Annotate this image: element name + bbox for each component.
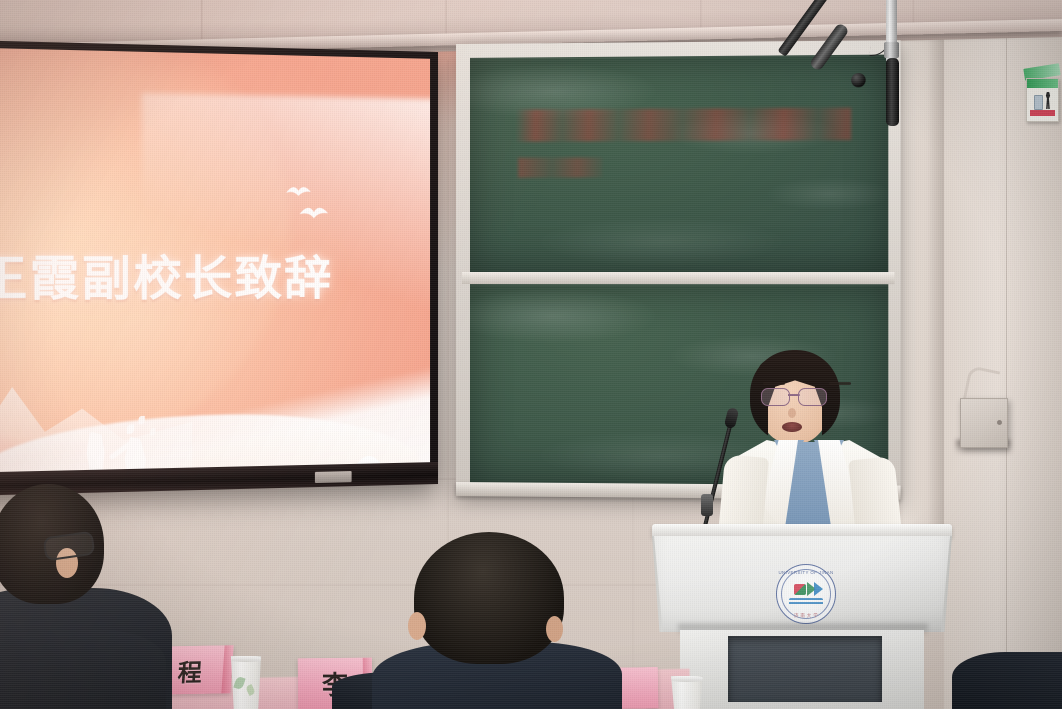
paper-cup <box>668 676 706 709</box>
dove-icon <box>299 204 330 222</box>
screen-brand-label <box>315 471 352 483</box>
slide-title: 王霞副校长致辞 <box>0 241 333 311</box>
lens-right <box>798 388 827 406</box>
sign-header-bar <box>1027 79 1058 88</box>
paper-cup <box>228 656 264 709</box>
university-emblem: UNIVERSITY OF JINAN 济 南 大 学 <box>776 564 836 624</box>
panel-latch-icon[interactable] <box>997 420 1002 425</box>
emblem-bottom-text: 济 南 大 学 <box>777 613 835 619</box>
hanging-microphone <box>886 58 899 126</box>
fire-safety-sign <box>1026 78 1059 122</box>
speaker-eyebrow <box>829 382 851 385</box>
emblem-square-mark <box>794 584 806 595</box>
red-chalk-subline <box>518 157 603 177</box>
podium-top-surface <box>652 524 952 537</box>
magnet-icon <box>851 73 865 87</box>
audience-hair <box>414 532 564 664</box>
right-wall-seam <box>1006 0 1007 709</box>
person-icon <box>1045 92 1051 109</box>
dove-icon <box>285 184 312 200</box>
fire-extinguisher-icon <box>1034 95 1043 110</box>
podium-recess <box>728 636 882 702</box>
mic-mount-joint <box>884 42 899 58</box>
projection-screen: 王霞副校长致辞 <box>0 40 438 496</box>
emblem-wave-lines <box>789 598 823 607</box>
microphone-base-clip <box>701 494 713 516</box>
lecture-hall-photo: 王霞副校长致辞 <box>0 0 1062 709</box>
speaker-eyebrow <box>763 382 785 385</box>
audience-member <box>400 532 630 709</box>
projection-screen-surface: 王霞副校长致辞 <box>0 48 430 473</box>
eyeglasses-icon <box>761 388 827 404</box>
wall-access-panel[interactable] <box>960 398 1008 448</box>
slide-petal-icon <box>138 416 144 424</box>
blackboard-divider <box>462 272 894 284</box>
cup-rim <box>228 656 264 662</box>
speaker-mouth <box>782 422 802 432</box>
emblem-top-text: UNIVERSITY OF JINAN <box>777 570 835 575</box>
podium-front-panel: UNIVERSITY OF JINAN 济 南 大 学 <box>654 536 950 632</box>
audience-ear <box>408 612 426 640</box>
blackboard-upper-panel <box>470 55 888 272</box>
cup-leaf-pattern <box>245 684 256 696</box>
sign-warning-bar <box>1030 110 1055 116</box>
emblem-chevrons <box>807 581 825 598</box>
lens-left <box>761 388 790 406</box>
audience-shoulder <box>952 652 1062 709</box>
red-chalk-heading <box>516 108 851 142</box>
slide-petal-icon <box>150 428 155 435</box>
audience-member <box>0 484 152 709</box>
audience-shoulder <box>0 630 166 709</box>
cup-leaf-pattern <box>233 676 245 690</box>
cup-rim <box>668 676 706 682</box>
speaker-nose <box>788 408 796 418</box>
audience-ear <box>546 616 563 642</box>
audience-member <box>952 652 1062 709</box>
